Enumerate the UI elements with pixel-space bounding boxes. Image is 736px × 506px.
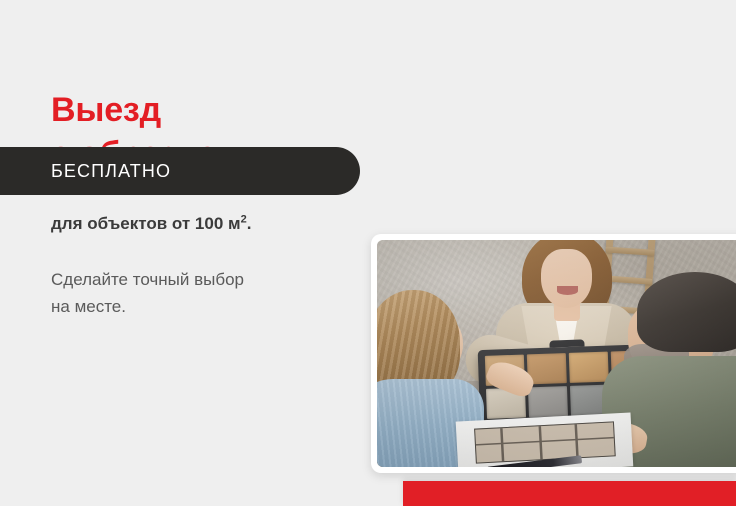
sample-tile (569, 351, 609, 382)
status-badge: БЕСПЛАТНО (0, 147, 360, 195)
promo-subtitle: для объектов от 100 м2. (51, 212, 251, 236)
headline-line-1: Выезд (51, 91, 161, 129)
promo-photo (377, 240, 736, 467)
promo-banner: Выезд с образцами БЕСПЛАТНО для объектов… (0, 0, 736, 506)
accent-bar (403, 481, 736, 506)
promo-subtitle-text: для объектов от 100 м (51, 214, 241, 233)
status-badge-label: БЕСПЛАТНО (51, 162, 171, 180)
sample-tile (528, 385, 568, 416)
promo-body-text: Сделайте точный выбор на месте. (51, 266, 244, 320)
promo-photo-card (371, 234, 736, 473)
client-man-right (618, 272, 736, 467)
promo-subtitle-period: . (247, 214, 252, 233)
